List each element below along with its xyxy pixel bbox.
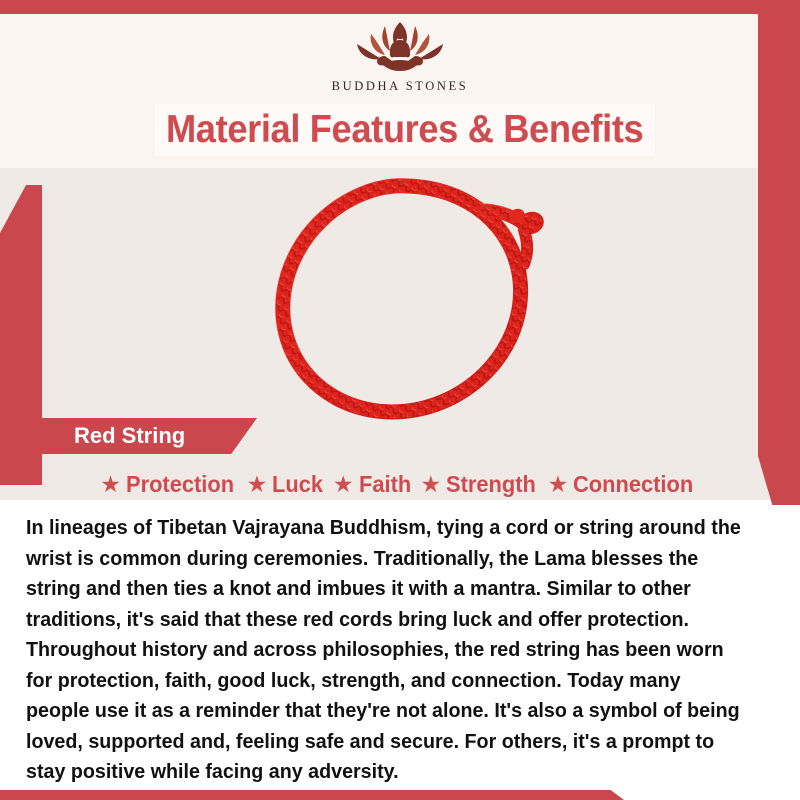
feature-list: ★ Protection ★ Luck ★ Faith ★ Strength ★… bbox=[0, 466, 800, 502]
product-name-banner: Red String bbox=[42, 418, 257, 454]
feature-item-faith: ★ Faith bbox=[333, 471, 414, 498]
product-name: Red String bbox=[42, 423, 185, 449]
product-image bbox=[228, 168, 578, 433]
star-icon: ★ bbox=[100, 473, 121, 496]
feature-item-luck: ★ Luck bbox=[247, 471, 326, 498]
decorative-top-red-band bbox=[0, 0, 800, 14]
feature-label: Connection bbox=[573, 471, 693, 498]
feature-item-connection: ★ Connection bbox=[548, 471, 700, 498]
red-string-braided-bracelet-image bbox=[228, 168, 578, 433]
star-icon: ★ bbox=[247, 473, 268, 496]
infographic-page: BUDDHA STONES Material Features & Benefi… bbox=[0, 0, 800, 800]
feature-label: Strength bbox=[446, 471, 536, 498]
lotus-meditation-figure-icon bbox=[335, 14, 465, 78]
feature-label: Luck bbox=[272, 471, 323, 498]
feature-item-strength: ★ Strength bbox=[420, 471, 540, 498]
star-icon: ★ bbox=[420, 473, 441, 496]
page-title-band: Material Features & Benefits bbox=[155, 104, 655, 156]
feature-label: Protection bbox=[126, 471, 234, 498]
feature-item-protection: ★ Protection bbox=[100, 471, 239, 498]
feature-label: Faith bbox=[359, 471, 411, 498]
brand-logo: BUDDHA STONES bbox=[0, 14, 800, 106]
description-block: In lineages of Tibetan Vajrayana Buddhis… bbox=[0, 505, 800, 790]
decorative-left-red-strip bbox=[0, 185, 42, 485]
brand-name: BUDDHA STONES bbox=[332, 79, 469, 94]
star-icon: ★ bbox=[333, 473, 354, 496]
star-icon: ★ bbox=[548, 473, 569, 496]
description-text: In lineages of Tibetan Vajrayana Buddhis… bbox=[26, 513, 742, 788]
page-title: Material Features & Benefits bbox=[166, 108, 643, 152]
